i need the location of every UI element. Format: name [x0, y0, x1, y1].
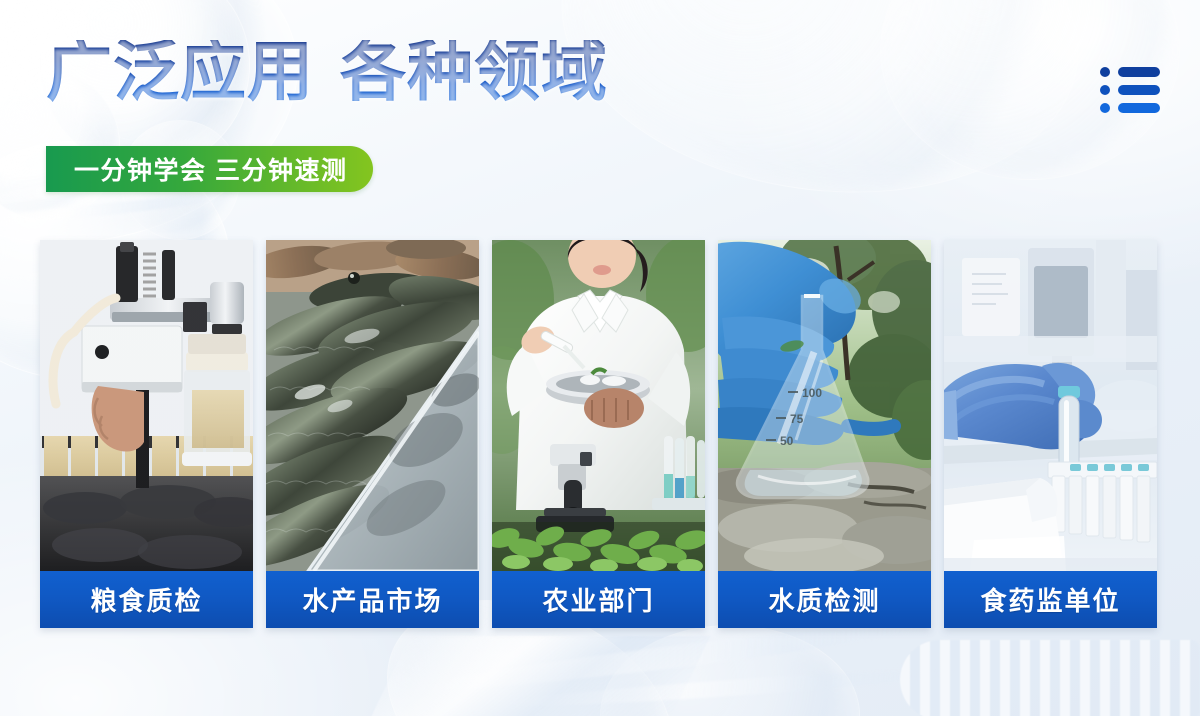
page-title: 广泛应用各种领域	[46, 40, 608, 106]
bg-bubble	[540, 0, 1099, 225]
card-food-drug-admin[interactable]: 食药监单位	[944, 240, 1157, 628]
page-title-part2: 各种领域	[340, 36, 608, 109]
list-bullet-icon	[1100, 67, 1110, 77]
flask-mark-75: 75	[790, 412, 804, 426]
test-tube-rack-icon	[944, 240, 1157, 571]
flask-mark-100: 100	[802, 386, 822, 400]
card-water-quality[interactable]: 100 75 50 水质检测	[718, 240, 931, 628]
agriculture-lab-icon	[492, 240, 705, 571]
card-image-grain	[40, 240, 253, 571]
bg-glass-coil	[900, 640, 1200, 716]
card-image-fish	[266, 240, 479, 571]
bg-water-ripple	[500, 664, 960, 712]
bg-bubble	[600, 625, 860, 716]
card-label: 水产品市场	[266, 571, 479, 628]
water-sampling-icon: 100 75 50	[718, 240, 931, 571]
bg-glass-streak	[370, 636, 711, 716]
card-agriculture-dept[interactable]: 农业部门	[492, 240, 705, 628]
card-image-testtube	[944, 240, 1157, 571]
bulleted-list-icon[interactable]	[1100, 67, 1160, 113]
tagline-text: 一分钟学会 三分钟速测	[74, 151, 347, 187]
list-line-icon	[1118, 85, 1160, 95]
card-label: 食药监单位	[944, 571, 1157, 628]
page-root: 广泛应用各种领域 一分钟学会 三分钟速测	[0, 0, 1200, 716]
card-label: 水质检测	[718, 571, 931, 628]
page-title-part1: 广泛应用	[46, 36, 314, 109]
list-bullet-icon	[1100, 103, 1110, 113]
card-image-water: 100 75 50	[718, 240, 931, 571]
list-bullet-icon	[1100, 85, 1110, 95]
card-label: 农业部门	[492, 571, 705, 628]
card-grain-inspection[interactable]: 粮食质检	[40, 240, 253, 628]
flask-mark-50: 50	[780, 434, 794, 448]
lab-press-machine-icon	[40, 240, 253, 571]
application-card-list: 粮食质检	[40, 240, 1157, 628]
card-label: 粮食质检	[40, 571, 253, 628]
card-aquatic-market[interactable]: 水产品市场	[266, 240, 479, 628]
card-image-agriculture	[492, 240, 705, 571]
list-line-icon	[1118, 67, 1160, 77]
fish-market-icon	[266, 240, 479, 571]
tagline-badge: 一分钟学会 三分钟速测	[46, 146, 373, 192]
bg-water-ripple	[0, 189, 240, 232]
list-line-icon	[1118, 103, 1160, 113]
